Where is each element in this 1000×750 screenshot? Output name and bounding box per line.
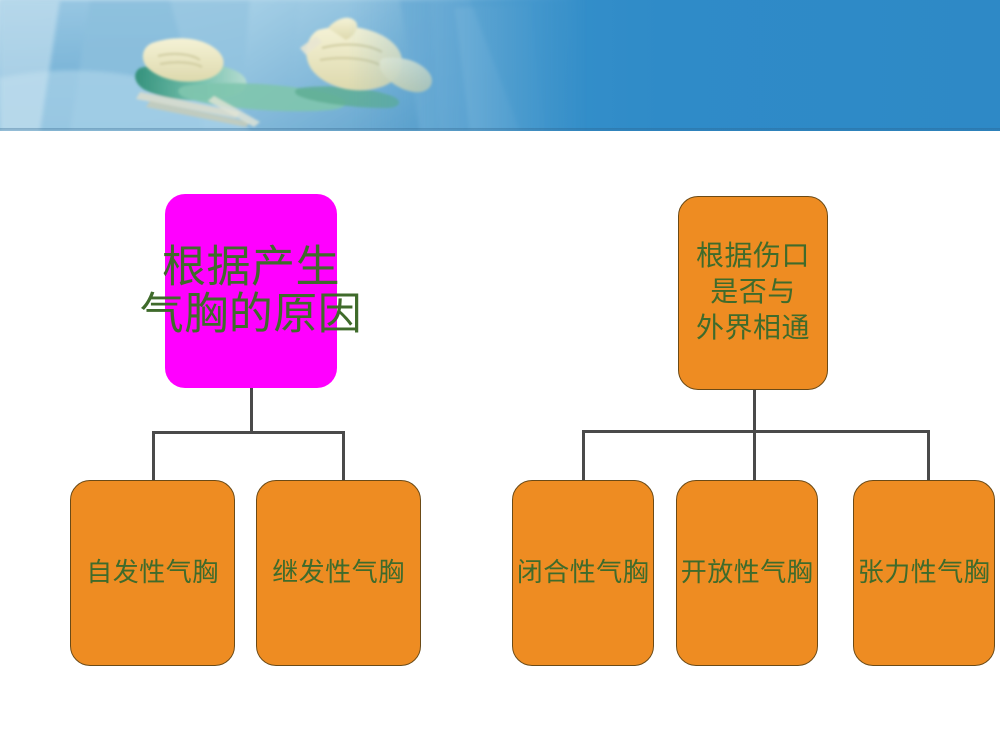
- node-closed-pneumothorax-label: 闭合性气胸: [488, 559, 678, 587]
- connector-cause-drop-left: [152, 431, 155, 481]
- node-tension-pneumothorax[interactable]: 张力性气胸: [853, 480, 995, 666]
- node-root-wound-label: 根据伤口是否与外界相通: [679, 239, 827, 346]
- node-spontaneous-pneumothorax[interactable]: 自发性气胸: [70, 480, 235, 666]
- node-secondary-pneumothorax[interactable]: 继发性气胸: [256, 480, 421, 666]
- node-open-pneumothorax[interactable]: 开放性气胸: [676, 480, 818, 666]
- connector-cause-horizontal: [152, 431, 345, 434]
- connector-wound-horizontal: [582, 430, 930, 433]
- node-open-pneumothorax-label: 开放性气胸: [652, 559, 842, 587]
- classification-diagram: 根据产生气胸的原因 根据伤口是否与外界相通 自发性气胸 继发性气胸 闭合性气胸 …: [0, 131, 1000, 750]
- node-spontaneous-pneumothorax-label: 自发性气胸: [58, 559, 248, 587]
- connector-root-cause-stem: [250, 388, 253, 433]
- connector-root-wound-stem: [753, 390, 756, 432]
- slide-canvas: 根据产生气胸的原因 根据伤口是否与外界相通 自发性气胸 继发性气胸 闭合性气胸 …: [0, 0, 1000, 750]
- node-root-cause-label: 根据产生气胸的原因: [121, 244, 381, 337]
- node-tension-pneumothorax-label: 张力性气胸: [829, 559, 1000, 587]
- surgery-photo: [0, 0, 600, 131]
- connector-wound-drop-left: [582, 430, 585, 481]
- connector-wound-drop-right: [927, 430, 930, 481]
- node-secondary-pneumothorax-label: 继发性气胸: [244, 559, 434, 587]
- connector-wound-drop-middle: [753, 430, 756, 481]
- header-banner: [0, 0, 1000, 131]
- node-root-cause[interactable]: 根据产生气胸的原因: [165, 194, 337, 388]
- connector-cause-drop-right: [342, 431, 345, 481]
- node-closed-pneumothorax[interactable]: 闭合性气胸: [512, 480, 654, 666]
- node-root-wound[interactable]: 根据伤口是否与外界相通: [678, 196, 828, 390]
